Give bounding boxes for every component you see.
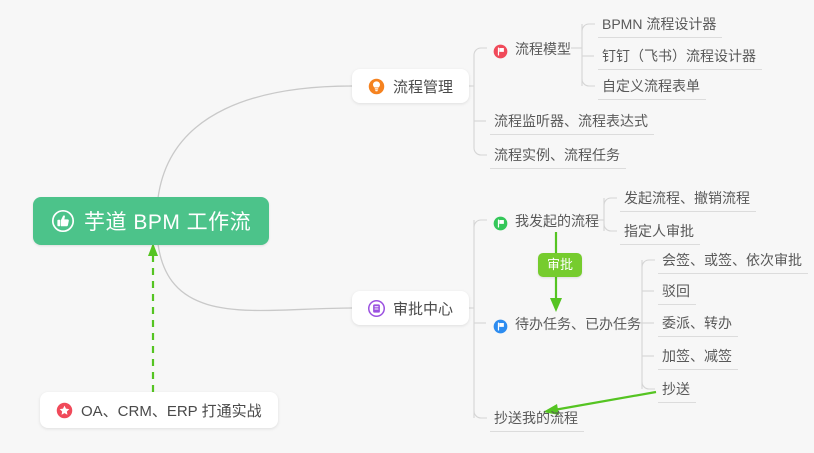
link-todo-to-countersign (642, 260, 655, 267)
node-label: 流程监听器、流程表达式 (494, 111, 648, 131)
flag-icon (493, 44, 508, 59)
branch-node-approval-center[interactable]: 审批中心 (352, 291, 469, 325)
link-root-to-process-management (158, 86, 352, 198)
callout-integration-practice[interactable]: OA、CRM、ERP 打通实战 (40, 392, 278, 428)
branch-label: 审批中心 (393, 298, 453, 319)
node-label: 会签、或签、依次审批 (662, 250, 802, 270)
flag-icon (493, 216, 508, 231)
node-label: 抄送我的流程 (494, 408, 578, 428)
annotation-label: 审批 (547, 257, 573, 272)
callout-label: OA、CRM、ERP 打通实战 (81, 400, 262, 421)
link-pm-to-instance (474, 148, 487, 155)
node-process-instance[interactable]: 流程实例、流程任务 (490, 141, 626, 169)
clipboard-icon (368, 300, 385, 317)
node-assigned-approval[interactable]: 指定人审批 (620, 217, 700, 245)
mindmap-canvas: 芋道 BPM 工作流 流程管理 流程模型 BPMN 流程设计器 钉钉（飞书）流程 (0, 0, 814, 453)
flag-icon (493, 319, 508, 334)
node-label: 待办任务、已办任务 (515, 314, 641, 334)
node-label: 加签、减签 (662, 346, 732, 366)
node-dingtalk-designer[interactable]: 钉钉（飞书）流程设计器 (598, 42, 762, 70)
lightbulb-icon (368, 78, 385, 95)
link-model-to-bpmn (582, 24, 595, 31)
root-node[interactable]: 芋道 BPM 工作流 (33, 197, 269, 245)
node-bpmn-designer[interactable]: BPMN 流程设计器 (598, 10, 722, 38)
node-process-model[interactable]: 流程模型 (489, 34, 577, 62)
node-label: 抄送 (662, 379, 690, 399)
node-custom-form[interactable]: 自定义流程表单 (598, 72, 706, 100)
node-carbon-copy[interactable]: 抄送 (658, 375, 696, 403)
node-launch-cancel-process[interactable]: 发起流程、撤销流程 (620, 184, 756, 212)
annotation-approve-tag: 审批 (538, 253, 582, 277)
node-label: 驳回 (662, 281, 690, 301)
branch-node-process-management[interactable]: 流程管理 (352, 69, 469, 103)
branch-label: 流程管理 (393, 76, 453, 97)
node-delegate-transfer[interactable]: 委派、转办 (658, 309, 738, 337)
link-root-to-approval-center (158, 244, 352, 311)
node-add-remove-sign[interactable]: 加签、减签 (658, 342, 738, 370)
link-pm-to-model (474, 48, 487, 55)
node-process-listener[interactable]: 流程监听器、流程表达式 (490, 107, 654, 135)
link-started-to-assign (604, 224, 617, 231)
node-label: 自定义流程表单 (602, 76, 700, 96)
node-label: 发起流程、撤销流程 (624, 188, 750, 208)
node-label: 流程实例、流程任务 (494, 145, 620, 165)
link-model-to-form (582, 79, 595, 86)
node-countersign-approval[interactable]: 会签、或签、依次审批 (658, 246, 808, 274)
node-label: 流程模型 (515, 39, 571, 59)
thumbs-up-icon (51, 209, 75, 233)
link-todo-to-cc (642, 382, 655, 389)
node-label: 我发起的流程 (515, 211, 599, 231)
link-ac-to-started (474, 220, 487, 227)
root-label: 芋道 BPM 工作流 (84, 206, 251, 236)
node-reject[interactable]: 驳回 (658, 277, 696, 305)
node-label: 委派、转办 (662, 313, 732, 333)
star-icon (56, 402, 73, 419)
node-cc-to-me-process[interactable]: 抄送我的流程 (490, 404, 584, 432)
node-my-started-process[interactable]: 我发起的流程 (489, 206, 605, 234)
node-label: 指定人审批 (624, 221, 694, 241)
arrow-callout-to-root (148, 243, 158, 392)
node-label: 钉钉（飞书）流程设计器 (602, 46, 756, 66)
link-ac-to-cc (474, 411, 487, 418)
node-todo-done-tasks[interactable]: 待办任务、已办任务 (489, 309, 647, 337)
link-started-to-launch (604, 198, 617, 205)
node-label: BPMN 流程设计器 (602, 14, 716, 34)
